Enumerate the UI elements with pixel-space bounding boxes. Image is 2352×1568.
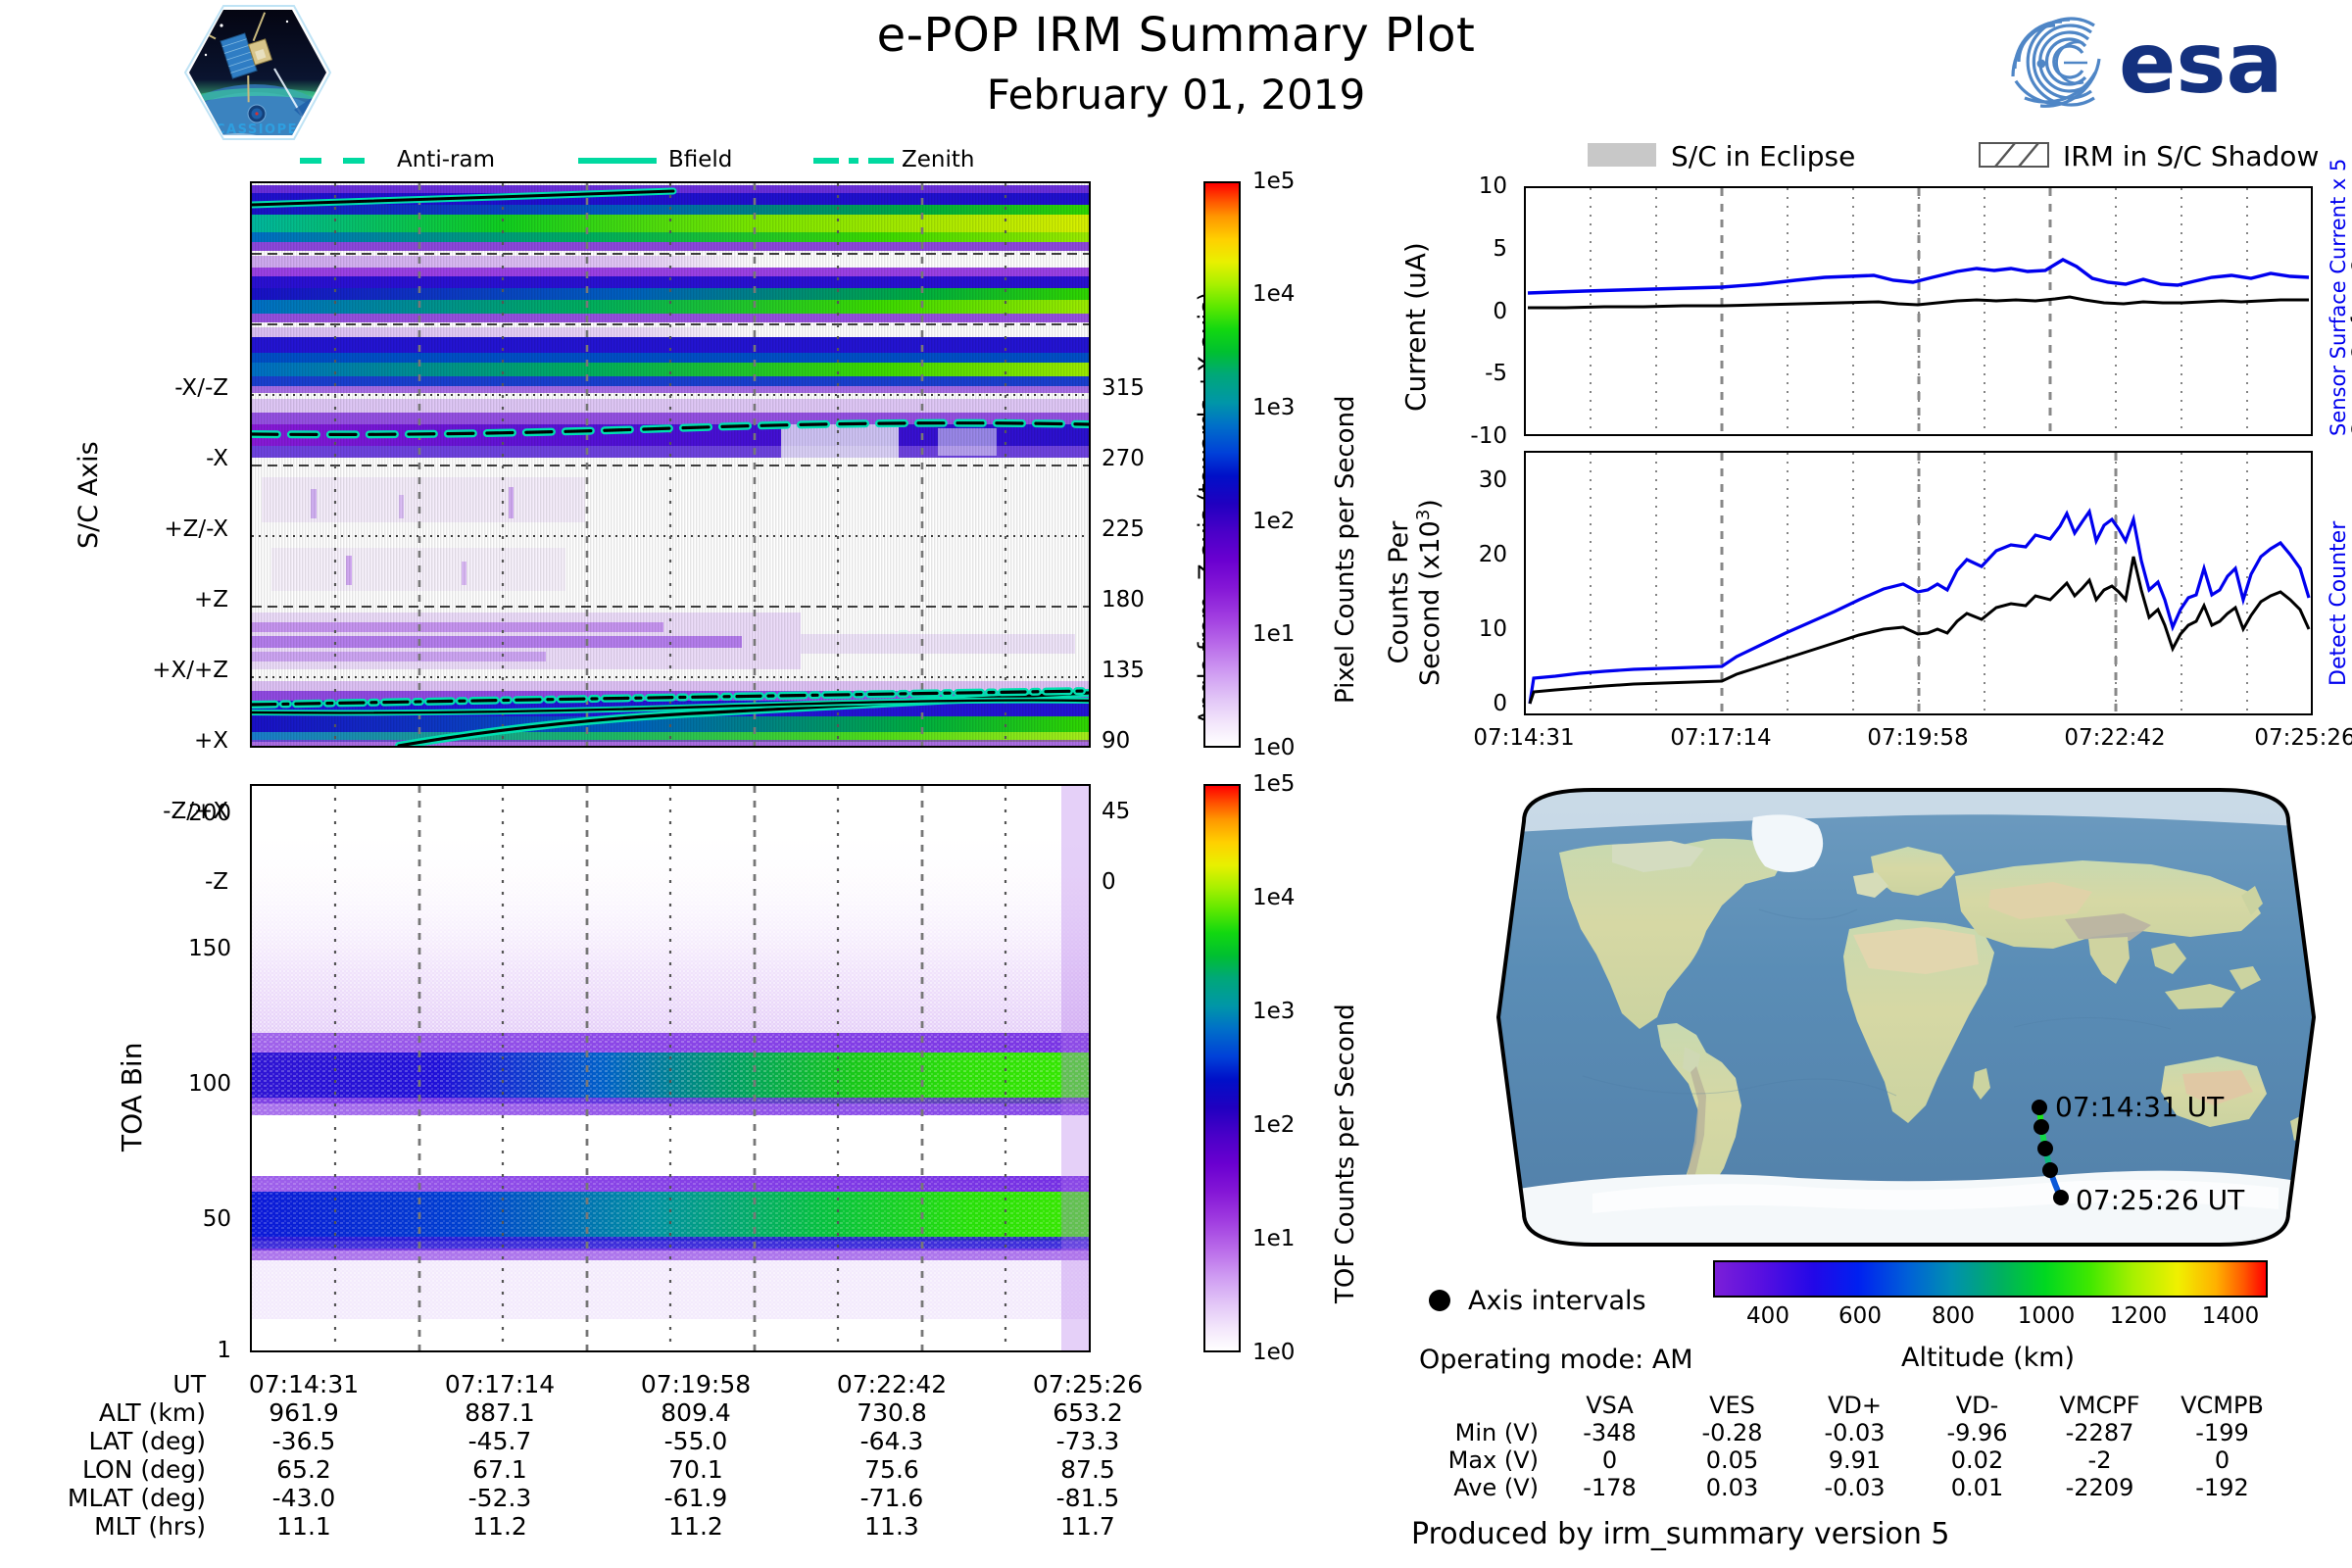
vrow-label-ave: Ave (V) [1401,1474,1548,1501]
current-right-label-blue: Sensor Surface Current x 5 [2327,159,2350,436]
toa-bin-spectrogram [250,784,1091,1352]
ytick-right-3: 180 [1102,587,1145,612]
xtick-3: 07:22:42 [2064,725,2165,751]
cell-mlt-2: 11.2 [598,1512,794,1541]
vcell-max-5: 0 [2161,1446,2283,1474]
timeseries-xticks: 07:14:31 07:17:14 07:19:58 07:22:42 07:2… [1426,725,2352,764]
cell-lat-2: -55.0 [598,1427,794,1455]
cell-alt-4: 653.2 [990,1398,1186,1427]
xtick-4: 07:25:26 [2254,725,2352,751]
spectrogram-yticks-left: -X/-Z -X +Z/-X +Z +X/+Z +X -Z/+X -Z [108,181,240,748]
current-ytick-10: 10 [1479,173,1507,199]
vcol-vdp: VD+ [1793,1392,1916,1419]
cell-mlt-1: 11.2 [402,1512,598,1541]
cell-lat-4: -73.3 [990,1427,1186,1455]
cell-alt-3: 730.8 [794,1398,990,1427]
tof-cbtick-1e4: 1e4 [1252,885,1295,910]
vcell-ave-3: 0.01 [1916,1474,2038,1501]
ytick-right-6: 45 [1102,799,1130,824]
cell-ut-1: 07:17:14 [402,1370,598,1398]
vcol-vsa: VSA [1548,1392,1671,1419]
xtick-1: 07:17:14 [1670,725,1771,751]
legend-label-shadow: IRM in S/C Shadow [2063,140,2319,172]
cell-alt-2: 809.4 [598,1398,794,1427]
cell-alt-1: 887.1 [402,1398,598,1427]
vcell-ave-1: 0.03 [1671,1474,1793,1501]
cbtick-1e5: 1e5 [1252,169,1295,194]
voltage-table: VSA VES VD+ VD- VMCPF VCMPB Min (V) -348… [1401,1392,2283,1501]
row-label-alt: ALT (km) [29,1398,206,1427]
mission-patch-label: CASSIOPE [216,122,298,137]
pixel-counts-colorbar [1203,181,1241,748]
row-label-lat: LAT (deg) [29,1427,206,1455]
spectrogram-ylabel-left: S/C Axis [73,441,104,549]
esa-logo: esa [2001,8,2346,116]
cell-ut-4: 07:25:26 [990,1370,1186,1398]
xtick-2: 07:19:58 [1867,725,1968,751]
counts-ylabel: Counts Per Second (x103) [1384,499,1445,686]
vcell-min-4: -2287 [2038,1419,2161,1446]
counts-ylabel-line1: Counts Per [1384,499,1414,686]
table-row: ALT (km) 961.9 887.1 809.4 730.8 653.2 [29,1398,1186,1427]
xtick-0: 07:14:31 [1473,725,1574,751]
counts-ytick-20: 20 [1479,542,1507,567]
row-label-mlt: MLT (hrs) [29,1512,206,1541]
table-row: MLAT (deg) -43.0 -52.3 -61.9 -71.6 -81.5 [29,1484,1186,1512]
row-label-mlat: MLAT (deg) [29,1484,206,1512]
tof-cbtick-1e3: 1e3 [1252,999,1295,1024]
vrow-label-max: Max (V) [1401,1446,1548,1474]
ytick-left-0: -X/-Z [174,375,228,401]
vcell-min-2: -0.03 [1793,1419,1916,1446]
current-ytick-5: 5 [1493,236,1507,262]
table-row: MLT (hrs) 11.1 11.2 11.2 11.3 11.7 [29,1512,1186,1541]
vrow-label-min: Min (V) [1401,1419,1548,1446]
vcell-ave-4: -2209 [2038,1474,2161,1501]
vcell-max-2: 9.91 [1793,1446,1916,1474]
cell-alt-0: 961.9 [206,1398,402,1427]
counts-right-label-blue: Detect Counter [2327,521,2351,686]
esa-logo-text: esa [2119,15,2283,113]
alt-tick-400: 400 [1746,1303,1789,1329]
current-ylabel: Current (uA) [1399,242,1432,412]
ytick-left-1: -X [206,446,228,471]
legend-label-zenith: Zenith [902,147,974,172]
counts-ylabel-line2: Second (x103) [1414,499,1445,686]
cell-mlt-3: 11.3 [794,1512,990,1541]
cassiope-mission-patch-icon: CASSIOPE [184,4,331,141]
table-header-row: VSA VES VD+ VD- VMCPF VCMPB [1401,1392,2283,1419]
spectrogram-yticks-right: 315 270 225 180 135 90 45 0 [1098,181,1186,748]
vcell-ave-5: -192 [2161,1474,2283,1501]
table-row: Ave (V) -178 0.03 -0.03 0.01 -2209 -192 [1401,1474,2283,1501]
axis-interval-marker-icon [1429,1290,1450,1311]
cell-lon-4: 87.5 [990,1455,1186,1484]
altitude-colorbar-ticks: 400 600 800 1000 1200 1400 [1713,1303,2268,1337]
vcell-max-1: 0.05 [1671,1446,1793,1474]
row-label-ut: UT [29,1370,206,1398]
alt-tick-1000: 1000 [2018,1303,2076,1329]
page-title: e-POP IRM Summary Plot [588,8,1764,63]
toa-yticks: 200 150 100 50 1 [147,784,245,1352]
ground-track-map [1465,782,2347,1252]
cell-lon-2: 70.1 [598,1455,794,1484]
toa-ytick-200: 200 [188,801,231,826]
current-ytick-m5: -5 [1485,361,1507,386]
row-label-lon: LON (deg) [29,1455,206,1484]
cbtick-1e3: 1e3 [1252,395,1295,420]
tof-cbtick-1e1: 1e1 [1252,1226,1295,1251]
toa-ytick-150: 150 [188,936,231,961]
tof-counts-colorbar-label: TOF Counts per Second [1331,1004,1360,1303]
counts-ytick-10: 10 [1479,616,1507,642]
tof-cbtick-1e0: 1e0 [1252,1340,1295,1365]
legend-label-bfield: Bfield [668,147,732,172]
table-row: UT 07:14:31 07:17:14 07:19:58 07:22:42 0… [29,1370,1186,1398]
vcell-min-5: -199 [2161,1419,2283,1446]
vcell-ave-0: -178 [1548,1474,1671,1501]
cbtick-1e2: 1e2 [1252,509,1295,534]
cell-lon-3: 75.6 [794,1455,990,1484]
vcell-ave-2: -0.03 [1793,1474,1916,1501]
cell-lon-1: 67.1 [402,1455,598,1484]
orbit-start-label: 07:14:31 UT [2055,1091,2224,1123]
ytick-left-4: +X/+Z [152,658,228,683]
cell-lat-0: -36.5 [206,1427,402,1455]
altitude-colorbar-label: Altitude (km) [1901,1343,2075,1373]
toa-ytick-50: 50 [203,1206,231,1232]
vcell-max-0: 0 [1548,1446,1671,1474]
axis-interval-legend-label: Axis intervals [1468,1286,1646,1316]
alt-tick-800: 800 [1932,1303,1975,1329]
vcell-min-1: -0.28 [1671,1419,1793,1446]
cell-mlat-2: -61.9 [598,1484,794,1512]
vcol-vmcpf: VMCPF [2038,1392,2161,1419]
toa-ytick-1: 1 [217,1338,231,1363]
tof-cbtick-1e5: 1e5 [1252,771,1295,797]
counts-plot [1524,451,2313,715]
spc-axis-spectrogram [250,181,1091,748]
current-yticks: 10 5 0 -5 -10 [1426,186,1519,436]
toa-ytick-100: 100 [188,1071,231,1097]
page-subtitle: February 01, 2019 [588,71,1764,119]
vcell-min-3: -9.96 [1916,1419,2038,1446]
counts-ytick-30: 30 [1479,467,1507,493]
table-row: LON (deg) 65.2 67.1 70.1 75.6 87.5 [29,1455,1186,1484]
table-row: LAT (deg) -36.5 -45.7 -55.0 -64.3 -73.3 [29,1427,1186,1455]
cell-lon-0: 65.2 [206,1455,402,1484]
alt-tick-1400: 1400 [2202,1303,2260,1329]
tof-counts-colorbar [1203,784,1241,1352]
operating-mode-label: Operating mode: AM [1419,1345,1693,1375]
vcell-max-3: 0.02 [1916,1446,2038,1474]
ytick-right-0: 315 [1102,375,1145,401]
cbtick-1e4: 1e4 [1252,281,1295,307]
table-row: Min (V) -348 -0.28 -0.03 -9.96 -2287 -19… [1401,1419,2283,1446]
ytick-left-2: +Z/-X [164,516,228,542]
ytick-left-3: +Z [194,587,228,612]
cell-lat-3: -64.3 [794,1427,990,1455]
alt-tick-600: 600 [1838,1303,1882,1329]
table-row: Max (V) 0 0.05 9.91 0.02 -2 0 [1401,1446,2283,1474]
ephemeris-table: UT 07:14:31 07:17:14 07:19:58 07:22:42 0… [29,1370,1186,1541]
pixel-counts-colorbar-label: Pixel Counts per Second [1331,395,1360,704]
toa-ylabel: TOA Bin [116,1043,148,1151]
cell-ut-0: 07:14:31 [206,1370,402,1398]
cell-mlat-4: -81.5 [990,1484,1186,1512]
altitude-colorbar [1713,1260,2268,1298]
ytick-right-1: 270 [1102,446,1145,471]
alt-tick-1200: 1200 [2110,1303,2168,1329]
vcol-vcmpb: VCMPB [2161,1392,2283,1419]
cell-ut-3: 07:22:42 [794,1370,990,1398]
vcell-min-0: -348 [1548,1419,1671,1446]
ytick-left-5: +X [194,728,228,754]
current-right-label-black: Sensor Surface Current [2348,197,2352,436]
ytick-right-2: 225 [1102,516,1145,542]
current-ytick-m10: -10 [1470,423,1507,449]
tof-cbtick-1e2: 1e2 [1252,1112,1295,1138]
orbit-end-label: 07:25:26 UT [2076,1184,2244,1216]
vcell-max-4: -2 [2038,1446,2161,1474]
counts-ytick-0: 0 [1493,691,1507,716]
current-ytick-0: 0 [1493,299,1507,324]
legend-label-eclipse: S/C in Eclipse [1671,140,1855,172]
cbtick-1e1: 1e1 [1252,621,1295,647]
cell-mlat-1: -52.3 [402,1484,598,1512]
ytick-right-5: 90 [1102,728,1130,754]
footer-produced-by: Produced by irm_summary version 5 [1411,1517,1949,1551]
ytick-right-7: 0 [1102,869,1116,895]
cell-mlat-3: -71.6 [794,1484,990,1512]
vcol-vdm: VD- [1916,1392,2038,1419]
cell-mlt-0: 11.1 [206,1512,402,1541]
cell-mlt-4: 11.7 [990,1512,1186,1541]
cell-mlat-0: -43.0 [206,1484,402,1512]
legend-label-anti-ram: Anti-ram [397,147,495,172]
cell-ut-2: 07:19:58 [598,1370,794,1398]
cbtick-1e0: 1e0 [1252,735,1295,760]
ytick-right-4: 135 [1102,658,1145,683]
cell-lat-1: -45.7 [402,1427,598,1455]
current-plot [1524,186,2313,436]
vcol-ves: VES [1671,1392,1793,1419]
